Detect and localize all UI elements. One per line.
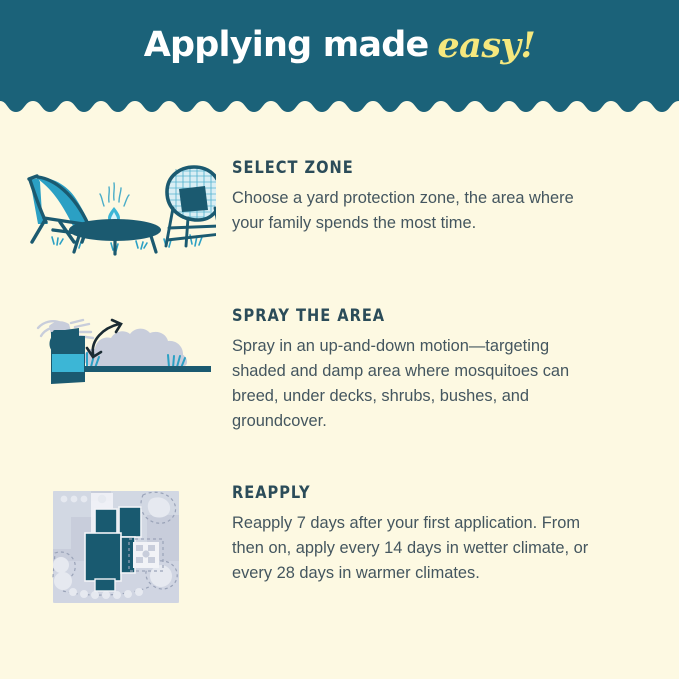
step-3-illustration [0,485,232,607]
step-2-body: Spray in an up-and-down motion—targeting… [232,334,604,434]
step-item-spray-the-area: SPRAY THE AREA Spray in an up-and-down m… [0,308,679,434]
page-title-accent: easy! [437,25,535,66]
steps-list: SELECT ZONE Choose a yard protection zon… [0,112,679,679]
patio-furniture-icon [16,162,216,258]
step-3-body: Reapply 7 days after your first applicat… [232,511,604,586]
step-1-illustration [0,160,232,258]
step-item-select-zone: SELECT ZONE Choose a yard protection zon… [0,160,679,258]
spray-bottle-icon [50,328,86,384]
step-item-reapply: REAPPLY Reapply 7 days after your first … [0,485,679,607]
header-banner: Applying madeeasy! [0,0,679,112]
infographic-page: Applying madeeasy! [0,0,679,679]
step-3-heading: REAPPLY [232,485,587,502]
page-title-main: Applying made [144,25,429,65]
page-title: Applying madeeasy! [0,28,679,63]
step-2-heading: SPRAY THE AREA [232,308,587,325]
step-2-text: SPRAY THE AREA Spray in an up-and-down m… [232,308,679,434]
step-2-illustration [0,308,232,390]
spray-bottle-bush-icon [21,310,211,390]
yard-map-icon [51,487,181,607]
step-1-text: SELECT ZONE Choose a yard protection zon… [232,160,679,236]
step-1-heading: SELECT ZONE [232,160,587,177]
egg-chair-icon [166,167,216,246]
scalloped-edge-icon [0,92,679,112]
step-1-body: Choose a yard protection zone, the area … [232,186,604,236]
step-3-text: REAPPLY Reapply 7 days after your first … [232,485,679,586]
deck-detail [129,539,163,571]
ground-line [65,366,211,372]
